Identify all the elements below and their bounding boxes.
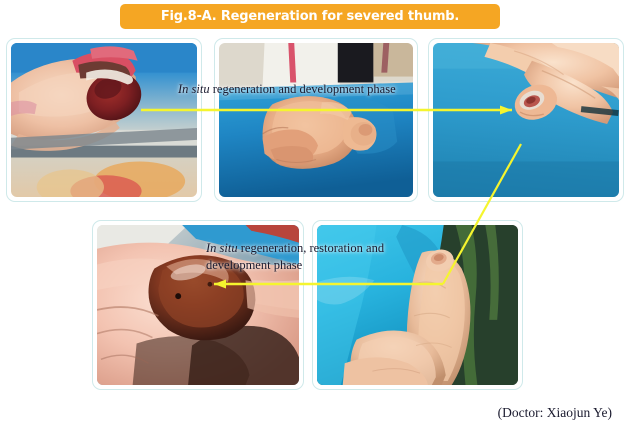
figure-title-banner: Fig.8-A. Regeneration for severed thumb. xyxy=(120,4,500,29)
figure-panel-thumb-regeneration-late-phase xyxy=(428,38,624,202)
annotation-label-top: In situ regeneration and development pha… xyxy=(178,82,396,97)
photo-severed-thumb-fresh-wound xyxy=(11,43,197,197)
doctor-credit: (Doctor: Xiaojun Ye) xyxy=(498,405,612,421)
annotation-label-top-rest: regeneration and development phase xyxy=(210,82,396,96)
photo-thumb-regeneration-mid-phase xyxy=(219,43,413,197)
figure-panel-thumb-regeneration-mid-phase xyxy=(214,38,418,202)
annotation-label-top-italic: In situ xyxy=(178,82,210,96)
annotation-label-bottom-italic: In situ xyxy=(206,241,238,255)
figure-panel-severed-thumb-fresh-wound xyxy=(6,38,202,202)
figure-title: Fig.8-A. Regeneration for severed thumb. xyxy=(161,9,459,24)
photo-thumb-regeneration-late-phase xyxy=(433,43,619,197)
annotation-label-bottom: In situ regeneration, restoration and de… xyxy=(206,240,446,274)
